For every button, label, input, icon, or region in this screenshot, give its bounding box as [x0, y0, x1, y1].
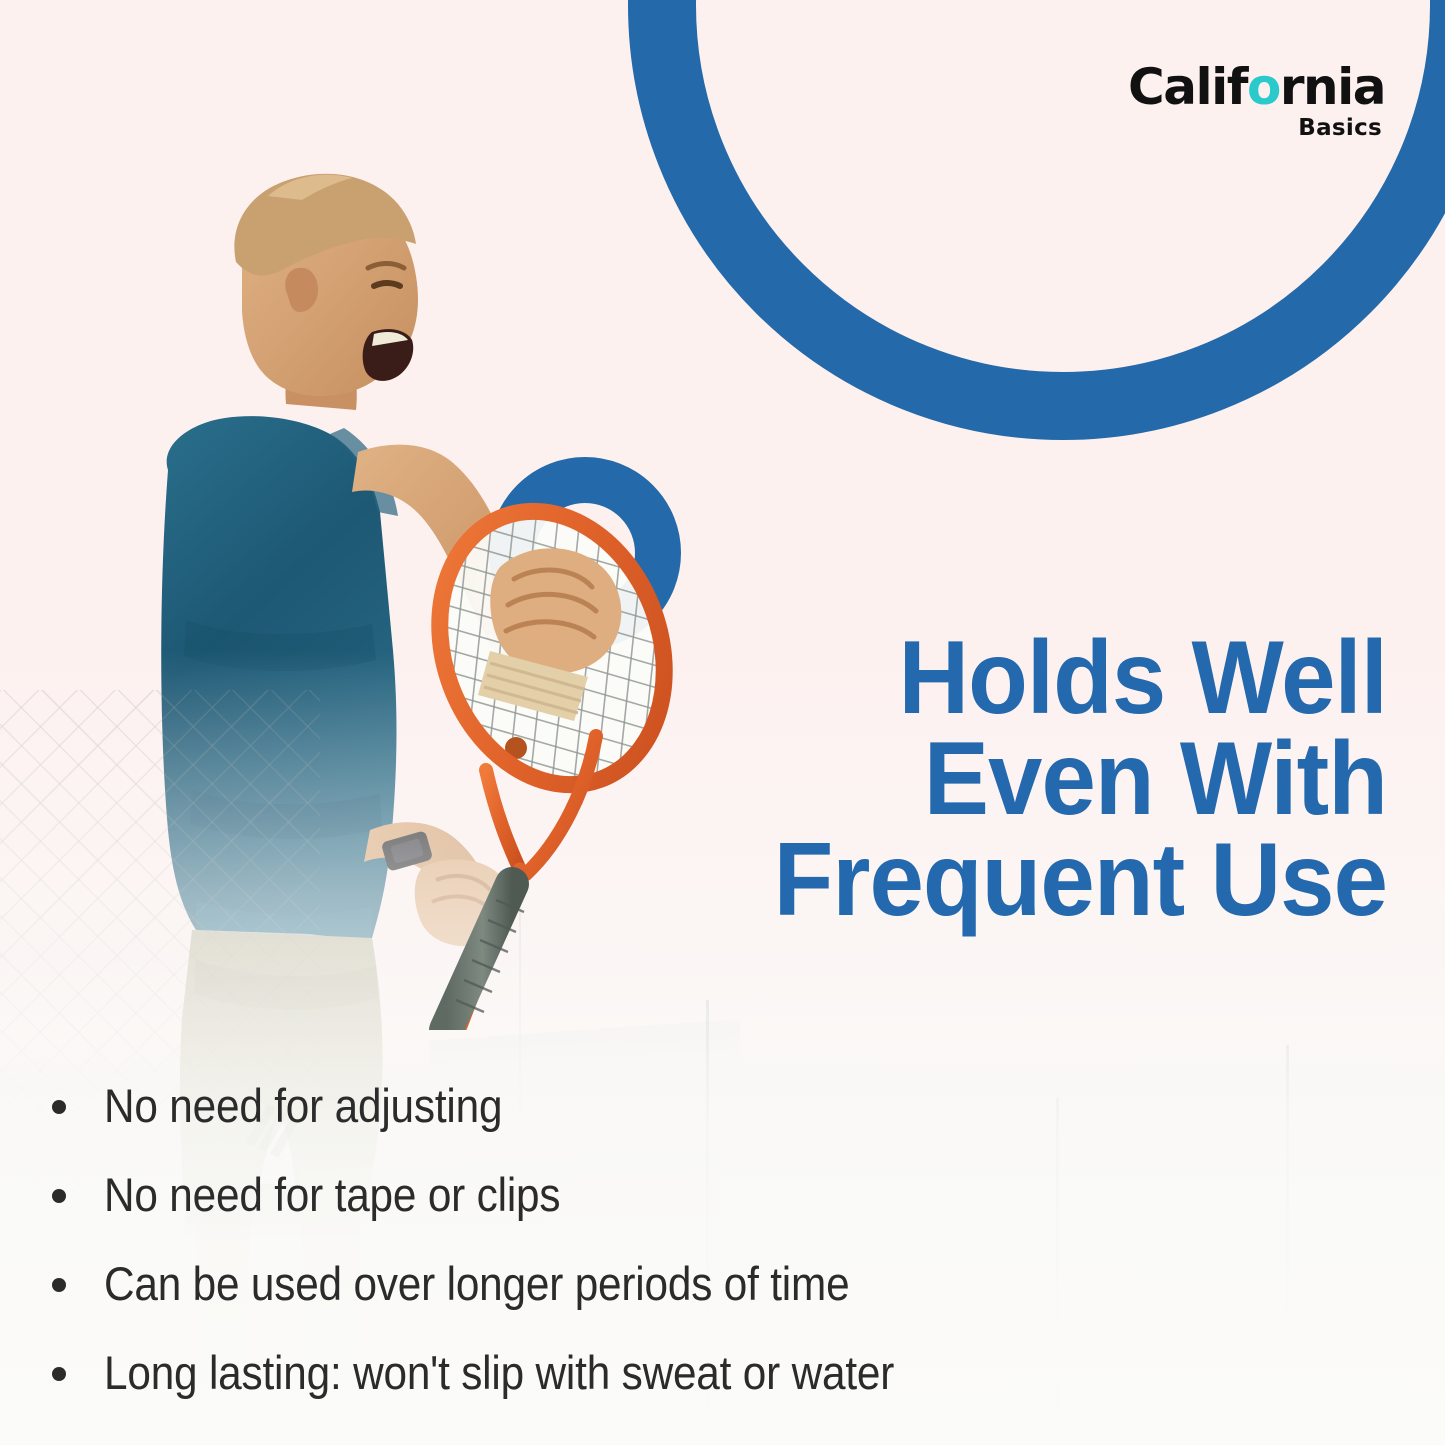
brand-logo-wordmark: California	[1128, 62, 1385, 112]
bullet-dot-icon	[52, 1100, 66, 1114]
list-item: No need for tape or clips	[52, 1167, 1232, 1256]
brand-logo-subtitle: Basics	[1128, 117, 1385, 140]
headline-line-3: Frequent Use	[654, 830, 1387, 931]
headline: Holds Well Even With Frequent Use	[654, 628, 1387, 931]
feature-bullet-list: No need for adjusting No need for tape o…	[52, 1078, 1232, 1434]
logo-accent-letter: o	[1247, 58, 1280, 116]
bullet-dot-icon	[52, 1189, 66, 1203]
raised-fist	[470, 525, 660, 725]
logo-text-after: rnia	[1280, 58, 1385, 116]
list-item: No need for adjusting	[52, 1078, 1232, 1167]
bullet-text: Can be used over longer periods of time	[104, 1256, 849, 1311]
promo-poster: California Basics Holds Well Even With F…	[0, 0, 1445, 1445]
bullet-dot-icon	[52, 1278, 66, 1292]
list-item: Long lasting: won't slip with sweat or w…	[52, 1345, 1232, 1434]
list-item: Can be used over longer periods of time	[52, 1256, 1232, 1345]
bullet-text: No need for adjusting	[104, 1078, 502, 1133]
headline-line-2: Even With	[654, 729, 1387, 830]
bullet-text: No need for tape or clips	[104, 1167, 560, 1222]
brand-logo[interactable]: California Basics	[1128, 62, 1385, 140]
logo-text-before: Calif	[1128, 58, 1247, 116]
headline-line-1: Holds Well	[654, 628, 1387, 729]
bullet-dot-icon	[52, 1367, 66, 1381]
bullet-text: Long lasting: won't slip with sweat or w…	[104, 1345, 894, 1400]
